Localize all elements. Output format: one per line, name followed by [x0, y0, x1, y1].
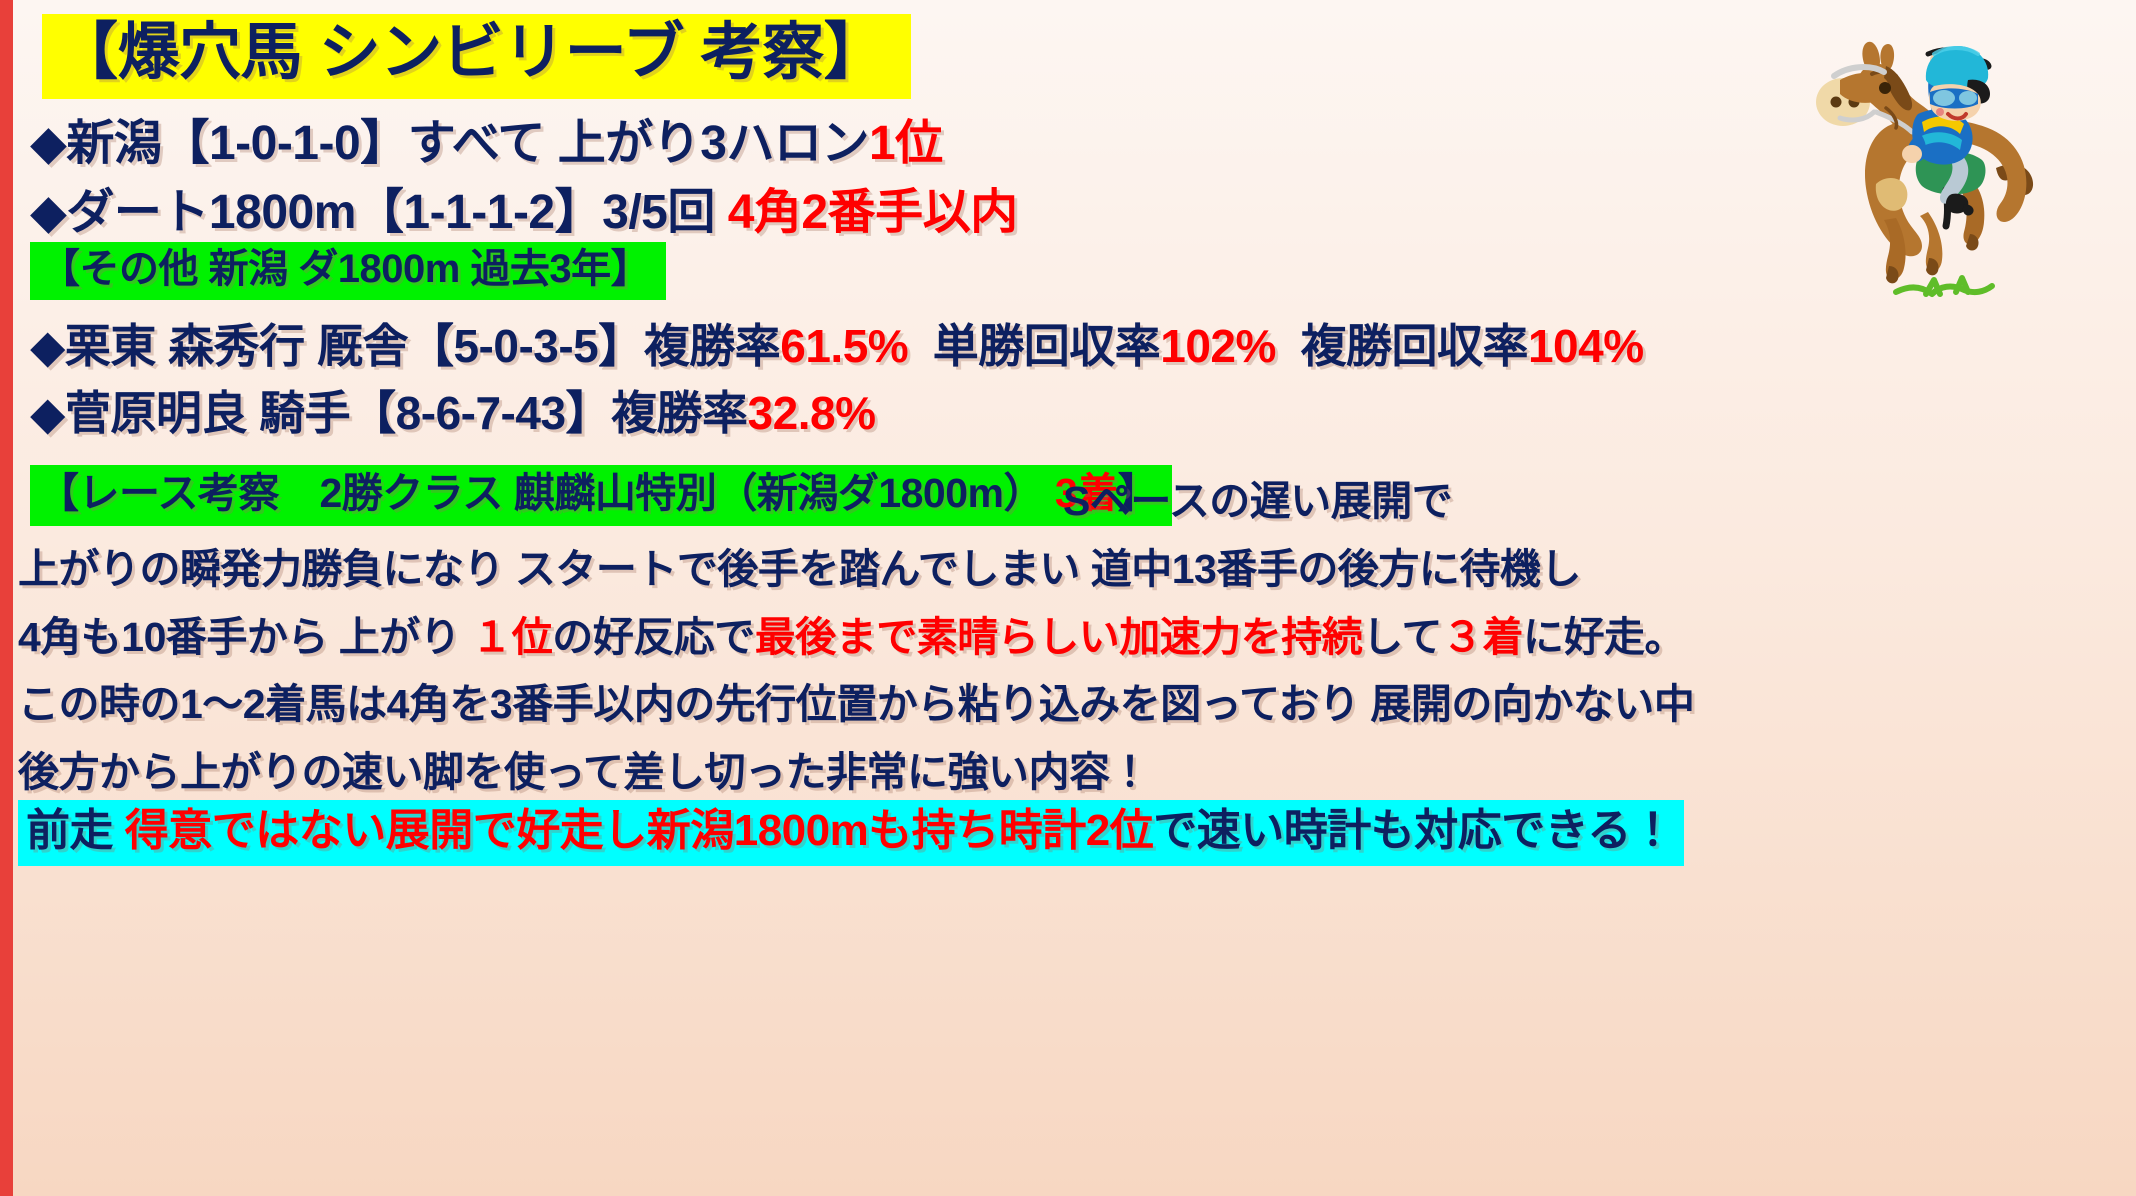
trainer-record: 【5-0-3-5】 [408, 320, 644, 372]
trainer-place-rate: 61.5% [780, 320, 908, 372]
line3-e: して [1362, 614, 1442, 660]
conclusion-banner: 前走 得意ではない展開で好走し新潟1800mも持ち時計2位で速い時計も対応できる… [18, 800, 1684, 866]
jockey-riding-horse-icon [1800, 8, 2100, 308]
line3-g: に好走。 [1523, 614, 1685, 660]
stat-line-jockey: ◆菅原明良 騎手【8-6-7-43】複勝率32.8% [30, 377, 875, 443]
stat-line-trainer: ◆栗東 森秀行 厩舎【5-0-3-5】複勝率61.5% 単勝回収率102% 複勝… [30, 310, 1644, 376]
jockey-place-rate-label: 複勝率 [611, 387, 748, 439]
jockey-place-rate: 32.8% [748, 387, 876, 439]
dirt-highlight: 4角2番手以内 [728, 186, 1018, 239]
stat-line-niigata: ◆新潟【1-0-1-0】すべて 上がり3ハロン1位 [30, 103, 943, 173]
trainer-win-roi: 102% [1160, 320, 1276, 372]
line3-a: 4角も10番手から 上がり [18, 614, 460, 660]
dirt-record: 【1-1-1-2】 [356, 186, 602, 239]
trainer-place-roi-label: 複勝回収率 [1300, 320, 1528, 372]
bullet-icon: ◆ [30, 117, 66, 170]
race-header-prefix: 【レース考察 2勝クラス 麒麟山特別（新潟ダ1800m） [38, 470, 1044, 516]
slide-canvas: 【爆穴馬 シンビリーブ 考察】 ◆新潟【1-0-1-0】すべて 上がり3ハロン1… [0, 0, 2136, 1196]
bullet-icon: ◆ [30, 320, 65, 372]
trainer-place-roi: 104% [1528, 320, 1644, 372]
niigata-record: 【1-0-1-0】 [161, 117, 407, 170]
line3-b: １位 [471, 614, 552, 660]
line3-d: 最後まで素晴らしい加速力を持続 [755, 614, 1363, 660]
race-review-line-3: 4角も10番手から 上がり １位の好反応で最後まで素晴らしい加速力を持続して３着… [18, 603, 1685, 663]
line3-f: ３着 [1442, 614, 1523, 660]
conclusion-prefix: 前走 [26, 806, 113, 855]
trainer-place-rate-label: 複勝率 [644, 320, 781, 372]
bullet-icon: ◆ [30, 186, 66, 239]
niigata-note: すべて 上がり3ハロン [408, 117, 869, 170]
trainer-win-roi-label: 単勝回収率 [933, 320, 1161, 372]
race-review-line-4: この時の1〜2着馬は4角を3番手以内の先行位置から粘り込みを図っており 展開の向… [18, 670, 1694, 730]
bullet-icon: ◆ [30, 387, 65, 439]
left-accent-stripe [0, 0, 13, 1196]
stat-line-dirt: ◆ダート1800m【1-1-1-2】3/5回 4角2番手以内 [30, 172, 1018, 242]
jockey-record: 【8-6-7-43】 [350, 387, 611, 439]
race-review-line-2: 上がりの瞬発力勝負になり スタートで後手を踏んでしまい 道中13番手の後方に待機… [18, 535, 1581, 595]
jockey-name: 菅原明良 騎手 [65, 387, 350, 439]
page-title: 【爆穴馬 シンビリーブ 考察】 [42, 14, 911, 99]
line3-c: の好反応で [552, 614, 755, 660]
trainer-name: 栗東 森秀行 厩舎 [65, 320, 408, 372]
niigata-highlight: 1位 [869, 117, 943, 170]
dirt-course: ダート1800m [66, 186, 355, 239]
conclusion-red: 得意ではない展開で好走し新潟1800mも持ち時計2位 [125, 806, 1153, 855]
race-header-tail: Sペースの遅い展開で [1063, 467, 1452, 527]
section-header-race-review: 【レース考察 2勝クラス 麒麟山特別（新潟ダ1800m） 3着】 [30, 465, 1172, 526]
dirt-ratio: 3/5回 [602, 186, 715, 239]
section-header-other: 【その他 新潟 ダ1800m 過去3年】 [30, 242, 666, 300]
conclusion-suffix: で速い時計も対応できる！ [1153, 806, 1674, 855]
race-review-line-5: 後方から上がりの速い脚を使って差し切った非常に強い内容！ [18, 738, 1150, 798]
niigata-track: 新潟 [66, 117, 161, 170]
